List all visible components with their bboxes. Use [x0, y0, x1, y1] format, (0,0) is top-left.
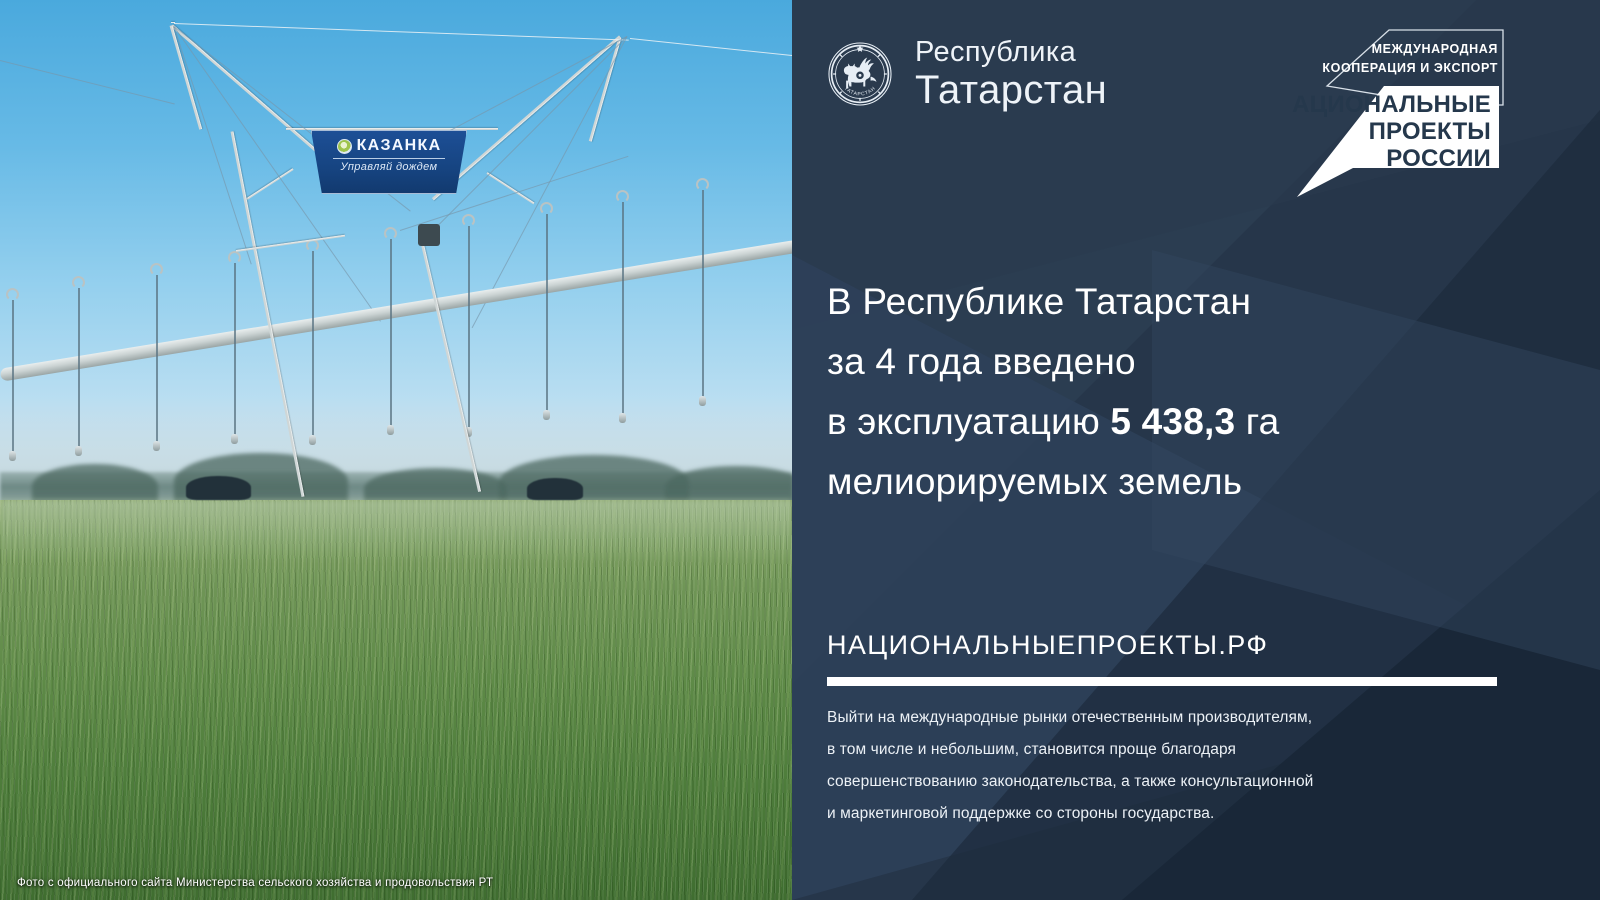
kazanka-brand-text: КАЗАНКА: [357, 137, 442, 155]
headline-line-3: в эксплуатацию 5 438,3 га: [827, 392, 1527, 452]
np-badge-line-1: НАЦИОНАЛЬНЫЕ: [1291, 91, 1491, 118]
np-kicker-line-2: КООПЕРАЦИЯ И ЭКСПОРТ: [1322, 61, 1498, 75]
pivot-tower-left: [186, 476, 251, 500]
body-line-4: и маркетинговой поддержке со стороны гос…: [827, 798, 1562, 830]
kazanka-tagline: Управляй дождем: [312, 161, 466, 173]
headline-line-3-pre: в эксплуатацию: [827, 401, 1110, 442]
headline: В Республике Татарстан за 4 года введено…: [827, 272, 1527, 512]
brand-line-2: Татарстан: [915, 70, 1107, 111]
photo-credit: Фото с официального сайта Министерства с…: [17, 877, 493, 889]
body-line-2: в том числе и небольшим, становится прощ…: [827, 734, 1562, 766]
np-kicker-line-1: МЕЖДУНАРОДНАЯ: [1372, 42, 1498, 56]
info-panel: ТАТАРСТАН Республика Татарстан МЕЖДУНАРО…: [792, 0, 1600, 900]
divider-bar: [827, 677, 1497, 686]
poster: КАЗАНКА Управляй дождем Фото с официальн…: [0, 0, 1600, 900]
headline-value: 5 438,3: [1110, 401, 1235, 442]
kazanka-sign: КАЗАНКА Управляй дождем: [311, 130, 467, 194]
tatarstan-brand: ТАТАРСТАН Республика Татарстан: [827, 38, 1107, 110]
brand-line-1: Республика: [915, 38, 1107, 68]
body-copy: Выйти на международные рынки отечественн…: [827, 702, 1562, 830]
tatarstan-coat-of-arms-icon: ТАТАРСТАН: [827, 41, 893, 107]
irrigation-pipe: [0, 236, 792, 382]
body-line-1: Выйти на международные рынки отечественн…: [827, 702, 1562, 734]
headline-line-1: В Республике Татарстан: [827, 272, 1527, 332]
headline-line-3-post: га: [1235, 401, 1279, 442]
sign-divider: [333, 158, 445, 159]
headline-line-4: мелиорируемых земель: [827, 452, 1527, 512]
np-badge-line-3: РОССИИ: [1386, 145, 1491, 172]
irrigation-photo: КАЗАНКА Управляй дождем Фото с официальн…: [0, 0, 792, 900]
kazanka-emblem-icon: [337, 139, 352, 154]
pivot-tower-right: [527, 478, 583, 500]
national-projects-logo: МЕЖДУНАРОДНАЯ КООПЕРАЦИЯ И ЭКСПОРТ НАЦИО…: [1291, 27, 1509, 207]
headline-line-2: за 4 года введено: [827, 332, 1527, 392]
body-line-3: совершенствованию законодательства, а та…: [827, 766, 1562, 798]
site-url[interactable]: НАЦИОНАЛЬНЫЕПРОЕКТЫ.РФ: [827, 630, 1268, 661]
np-badge-line-2: ПРОЕКТЫ: [1369, 118, 1491, 145]
